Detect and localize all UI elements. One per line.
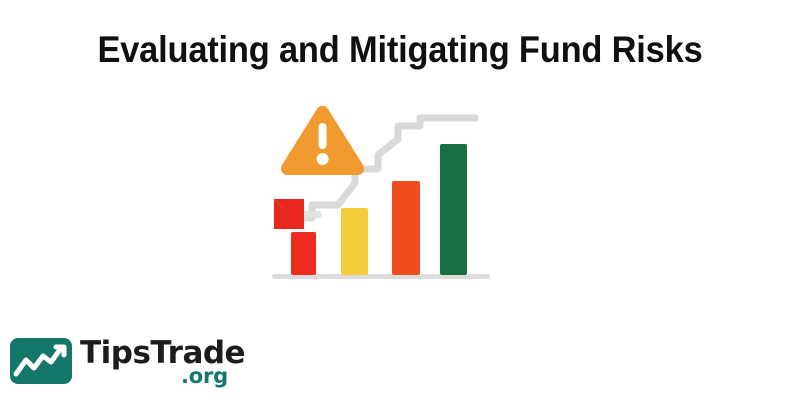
tipstrade-logo[interactable]: TipsTrade .org xyxy=(10,336,250,392)
line-chart-icon xyxy=(10,338,72,384)
page-title: Evaluating and Mitigating Fund Risks xyxy=(28,28,772,72)
logo-text: TipsTrade .org xyxy=(80,336,250,392)
poster-canvas: Evaluating and Mitigating Fund Risks xyxy=(0,0,800,400)
logo-tld: .org xyxy=(181,364,228,388)
risk-growth-bar-chart-illustration xyxy=(260,95,510,295)
bar-1 xyxy=(291,232,316,275)
bar-2 xyxy=(341,208,368,275)
bar-3 xyxy=(392,181,420,275)
bar-4 xyxy=(440,144,467,275)
warning-triangle-icon xyxy=(281,106,364,175)
